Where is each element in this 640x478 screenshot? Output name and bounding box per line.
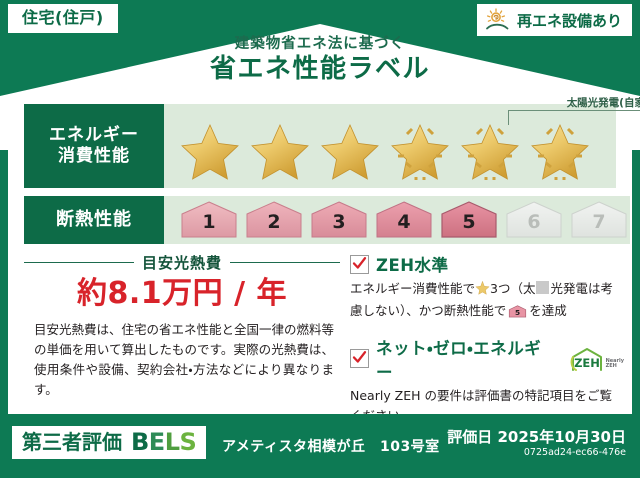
- house-type-badge: 住宅(住戸): [8, 4, 118, 33]
- label-footer: 第三者評価 BELS アメティスタ相模が丘 103号室 評価日 2025年10月…: [0, 414, 640, 478]
- rule-left: [24, 262, 134, 264]
- energy-performance-label: 住宅(住戸) 再エネ設備あり 建築物省エネ法に基づく 省エネ性能ラベル: [0, 0, 640, 478]
- main-panel: エネルギー 消費性能 太陽光発電(自家消費)分: [8, 96, 632, 414]
- star-icon-solar: [386, 117, 454, 181]
- zeh-netzero-title-row: ネット・ゼロ・エネルギー ZEH Nearly ZEH: [350, 335, 624, 383]
- insulation-level-7: 7: [568, 200, 630, 240]
- zeh-standard-body: エネルギー消費性能で3つ（太光発電は考慮しない）、かつ断熱性能で5を達成: [350, 279, 624, 326]
- zeh-standard-title-row: ZEH水準: [350, 252, 624, 276]
- checkbox-checked: [350, 255, 369, 274]
- bels-logo-jp: 第三者評価: [22, 432, 122, 452]
- zeh-logo-sub: Nearly ZEH: [606, 359, 624, 372]
- lower-section: 目安光熱費 約8.1万円 / 年 目安光熱費は、住宅の省エネ性能と全国一律の燃料…: [24, 252, 624, 404]
- header-subtitle: 建築物省エネ法に基づく: [0, 36, 640, 53]
- star-icon-solar: [526, 117, 594, 181]
- energy-label-line2: 消費性能: [58, 146, 130, 167]
- insulation-level-2: 2: [243, 200, 305, 240]
- insulation-level-scale: 1 2 3: [164, 200, 630, 240]
- insulation-level-number: 7: [568, 213, 630, 232]
- energy-performance-row: エネルギー 消費性能 太陽光発電(自家消費)分: [24, 104, 616, 188]
- zeh-netzero-title: ネット・ゼロ・エネルギー: [376, 335, 558, 383]
- zeh-body-part-a: エネルギー消費性能で: [350, 281, 475, 296]
- zeh-standard-block: ZEH水準 エネルギー消費性能で3つ（太光発電は考慮しない）、かつ断熱性能で5を…: [350, 252, 624, 326]
- star-icon: [316, 117, 384, 181]
- insulation-scale-area: 1 2 3: [164, 196, 630, 244]
- insulation-level-5: 5: [438, 200, 500, 240]
- insulation-level-number: 6: [503, 213, 565, 232]
- redacted-character-mask: [536, 281, 549, 294]
- energy-performance-label-box: エネルギー 消費性能: [24, 104, 164, 188]
- zeh-standard-title: ZEH水準: [376, 252, 449, 276]
- rule-right: [230, 262, 340, 264]
- insulation-level-6: 6: [503, 200, 565, 240]
- check-icon: [352, 350, 367, 365]
- insulation-performance-row: 断熱性能 1: [24, 196, 616, 244]
- renewable-badge-label: 再エネ設備あり: [517, 10, 622, 31]
- svg-text:5: 5: [515, 308, 520, 317]
- insulation-level-number: 3: [308, 213, 370, 232]
- utility-cost-value: 約8.1万円 / 年: [24, 277, 340, 312]
- insulation-level-number: 5: [438, 213, 500, 232]
- evaluation-date: 評価日 2025年10月30日: [447, 428, 626, 446]
- insulation-level-number: 4: [373, 213, 435, 232]
- evaluation-info: 評価日 2025年10月30日 0725ad24-ec66-476e: [447, 428, 626, 459]
- star-rating: [164, 117, 594, 181]
- inline-star-icon: [475, 280, 490, 301]
- renewable-equipment-badge: 再エネ設備あり: [477, 4, 632, 36]
- label-header: 建築物省エネ法に基づく 省エネ性能ラベル: [0, 36, 640, 85]
- star-icon: [246, 117, 314, 181]
- sun-renewable-icon: [485, 8, 511, 32]
- insulation-level-3: 3: [308, 200, 370, 240]
- insulation-level-number: 1: [178, 213, 240, 232]
- utility-cost-heading: 目安光熱費: [24, 252, 340, 273]
- checkbox-checked: [350, 349, 369, 368]
- zeh-body-part-d: を達成: [529, 303, 567, 318]
- solar-caption: 太陽光発電(自家消費)分: [494, 95, 640, 110]
- zeh-netzero-block: ネット・ゼロ・エネルギー ZEH Nearly ZEH: [350, 335, 624, 427]
- zeh-body-part-b: 3つ（太: [490, 281, 535, 296]
- page-title: 省エネ性能ラベル: [0, 55, 640, 85]
- insulation-performance-label-box: 断熱性能: [24, 196, 164, 244]
- bels-logo-en: BELS: [131, 430, 196, 454]
- energy-label-line1: エネルギー: [49, 125, 139, 146]
- insulation-level-number: 2: [243, 213, 305, 232]
- zeh-logo-sub-line2: ZEH: [606, 363, 617, 369]
- star-icon: [176, 117, 244, 181]
- utility-cost-title: 目安光熱費: [142, 252, 222, 273]
- property-name: アメティスタ相模が丘 103号室: [222, 436, 440, 456]
- utility-cost-note: 目安光熱費は、住宅の省エネ性能と全国一律の燃料等の単価を用いて算出したものです。…: [24, 320, 340, 401]
- insulation-label: 断熱性能: [56, 209, 132, 232]
- star-icon-solar: [456, 117, 524, 181]
- bels-logo: 第三者評価 BELS: [12, 426, 206, 459]
- utility-cost-column: 目安光熱費 約8.1万円 / 年 目安光熱費は、住宅の省エネ性能と全国一律の燃料…: [24, 252, 340, 404]
- insulation-level-4: 4: [373, 200, 435, 240]
- evaluation-id: 0725ad24-ec66-476e: [447, 447, 626, 459]
- inline-insulation-badge: 5: [508, 304, 527, 325]
- energy-stars-area: 太陽光発電(自家消費)分: [164, 104, 616, 188]
- insulation-level-1: 1: [178, 200, 240, 240]
- zeh-column: ZEH水準 エネルギー消費性能で3つ（太光発電は考慮しない）、かつ断熱性能で5を…: [340, 252, 624, 404]
- check-icon: [352, 256, 367, 271]
- svg-text:ZEH: ZEH: [574, 356, 600, 370]
- zeh-logo-icon: ZEH Nearly ZEH: [569, 346, 624, 372]
